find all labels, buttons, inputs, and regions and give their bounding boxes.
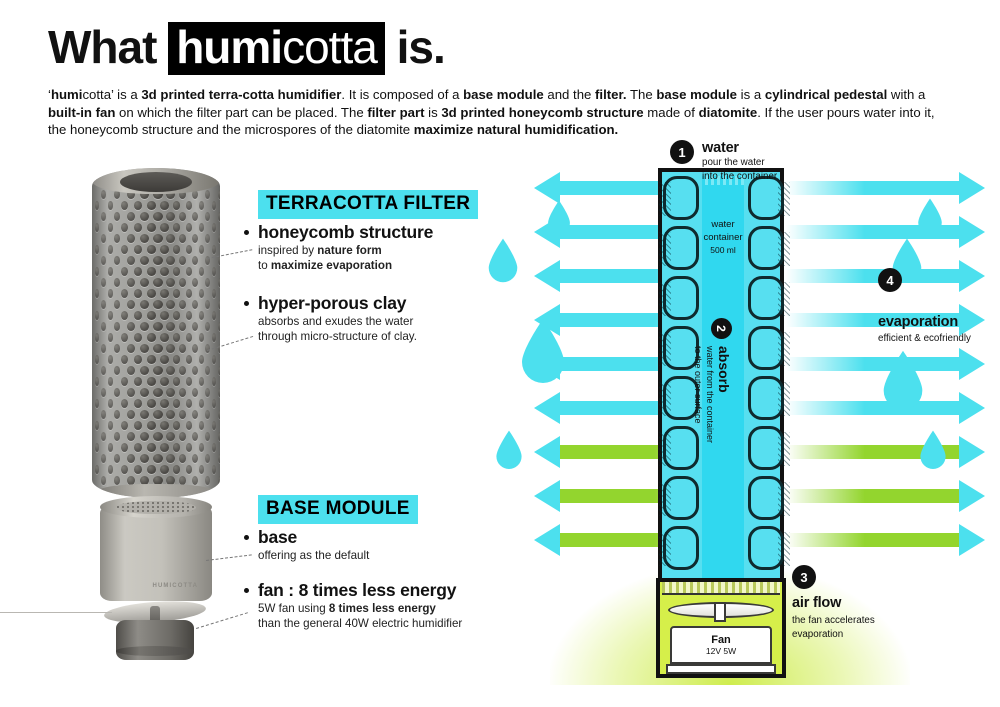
fan-foot	[666, 664, 776, 674]
step-title: evaporation	[878, 314, 971, 330]
fan-spec-box: Fan 12V 5W	[670, 626, 772, 664]
water-drop-icon	[486, 238, 520, 283]
bullet-title: fan : 8 times less energy	[258, 580, 499, 600]
water-container-label-line2: container	[702, 231, 744, 244]
bullet-hyper-porous-clay: hyper-porous clay absorbs and exudes the…	[244, 293, 479, 344]
water-container-label-line1: water	[702, 218, 744, 231]
step-1-water: 1 water pour the water into the containe…	[670, 140, 777, 183]
bullet-description: 5W fan using 8 times less energythan the…	[258, 602, 499, 631]
cell-hatch	[778, 382, 790, 416]
bullet-fan-energy: fan : 8 times less energy 5W fan using 8…	[244, 580, 499, 631]
step-title: water	[702, 140, 777, 156]
bullet-title: hyper-porous clay	[258, 293, 479, 313]
fan-label: Fan	[711, 634, 731, 646]
base-mesh-grill	[116, 501, 196, 514]
water-drop-icon	[916, 198, 944, 235]
cell-hatch	[778, 282, 790, 316]
base-brand-label: HUMICOTTA	[153, 583, 198, 589]
product-photo-fan-unit	[112, 600, 198, 662]
fan-ring	[116, 646, 194, 656]
cell-hatch	[778, 532, 790, 566]
bullet-description: inspired by nature formto maximize evapo…	[258, 244, 479, 273]
airflow-arrow-right	[786, 489, 961, 503]
cell-hatch	[659, 232, 671, 266]
base-grill-cross-section	[662, 582, 780, 595]
title-brand-bold: humi	[176, 21, 282, 73]
water-container-label: water container 500 ml	[702, 218, 744, 257]
cell-hatch	[659, 282, 671, 316]
cell-hatch	[778, 232, 790, 266]
water-drop-icon	[546, 200, 572, 234]
filter-inner-bore	[120, 172, 192, 192]
title-highlight: humicotta	[168, 22, 385, 75]
bullet-description: absorbs and exudes the waterthrough micr…	[258, 315, 479, 344]
bullet-description: offering as the default	[258, 549, 494, 564]
step-desc-line2: into the container	[702, 171, 777, 184]
step-4-evaporation: 4 evaporation efficient & ecofriendly	[878, 268, 971, 346]
step-desc-line1: pour the water	[702, 157, 777, 170]
bullet-base: base offering as the default	[244, 527, 494, 564]
step-desc-line1: the fan accelerates	[792, 615, 875, 628]
step-title: absorb	[716, 346, 732, 443]
intro-paragraph: ‘humicotta’ is a 3d printed terra-cotta …	[48, 86, 948, 139]
step-desc-line2: evaporation	[792, 629, 875, 642]
airflow-arrow-head-left	[534, 480, 560, 512]
cell-hatch	[659, 432, 671, 466]
airflow-arrow-right	[786, 357, 961, 371]
airflow-arrow-head-left	[534, 392, 560, 424]
step-title: air flow	[792, 595, 875, 611]
airflow-arrow-head-right	[959, 436, 985, 468]
bullet-title: honeycomb structure	[258, 222, 479, 242]
airflow-arrow-right	[786, 401, 961, 415]
airflow-arrow-head-right	[959, 216, 985, 248]
cell-hatch	[659, 482, 671, 516]
airflow-arrow-head-right	[959, 392, 985, 424]
title-post: is.	[385, 21, 445, 73]
product-photo-base-module: HUMICOTTA	[100, 505, 212, 601]
airflow-arrow-head-left	[534, 260, 560, 292]
airflow-arrow-right	[786, 181, 961, 195]
water-drop-icon	[880, 350, 926, 411]
bullet-dot-icon	[244, 230, 249, 235]
bullet-dot-icon	[244, 535, 249, 540]
cell-hatch	[778, 482, 790, 516]
water-drop-icon	[518, 318, 568, 384]
cell-hatch	[659, 532, 671, 566]
airflow-arrow-right	[786, 533, 961, 547]
title-brand-light: cotta	[282, 21, 377, 73]
step-number-badge: 3	[792, 565, 816, 589]
airflow-arrow-head-left	[534, 524, 560, 556]
step-2-absorb: 2 absorb water from the container to the…	[692, 318, 732, 443]
bullet-dot-icon	[244, 301, 249, 306]
cell-hatch	[659, 382, 671, 416]
leader-line-fan	[196, 612, 248, 629]
bullet-honeycomb-structure: honeycomb structure inspired by nature f…	[244, 222, 479, 273]
step-number-badge: 4	[878, 268, 902, 292]
cell-hatch	[659, 332, 671, 366]
power-cable	[0, 612, 112, 613]
fan-spec: 12V 5W	[706, 646, 736, 656]
section-heading-terracotta-filter: TERRACOTTA FILTER	[258, 190, 478, 219]
cell-hatch	[778, 182, 790, 216]
airflow-arrow-head-right	[959, 480, 985, 512]
honeycomb-texture	[92, 168, 220, 498]
cell-hatch	[778, 332, 790, 366]
diagram-fan-hub	[714, 602, 726, 622]
infographic-page: What humicotta is. ‘humicotta’ is a 3d p…	[0, 0, 1000, 707]
title-pre: What	[48, 21, 168, 73]
cell-hatch	[659, 182, 671, 216]
step-desc-line2: to the outer surface	[692, 346, 703, 443]
airflow-arrow-head-left	[534, 436, 560, 468]
step-number-badge: 2	[711, 318, 732, 339]
bullet-title: base	[258, 527, 494, 547]
product-photo-terracotta-filter	[92, 168, 220, 498]
airflow-arrow-head-right	[959, 348, 985, 380]
page-title: What humicotta is.	[48, 22, 445, 75]
step-desc-line1: water from the container	[704, 346, 715, 443]
step-desc-line1: efficient & ecofriendly	[878, 333, 971, 346]
airflow-arrow-head-right	[959, 172, 985, 204]
water-container-label-line3: 500 ml	[702, 244, 744, 257]
bullet-dot-icon	[244, 588, 249, 593]
water-drop-icon	[918, 430, 948, 470]
humidification-diagram: water container 500 ml Fan 12V 5W 1 wate…	[480, 140, 1000, 685]
water-drop-icon	[494, 430, 524, 470]
cell-hatch	[778, 432, 790, 466]
step-number-badge: 1	[670, 140, 694, 164]
airflow-arrow-head-right	[959, 524, 985, 556]
section-heading-base-module: BASE MODULE	[258, 495, 418, 524]
step-3-air-flow: 3 air flow the fan accelerates evaporati…	[792, 565, 875, 641]
